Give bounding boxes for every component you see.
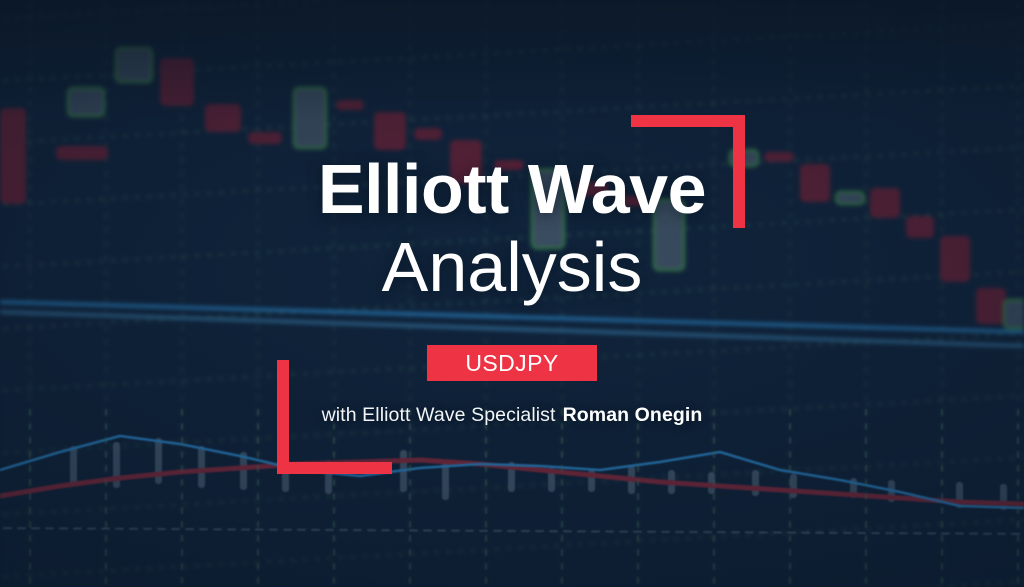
byline-name: Roman Onegin [563,404,703,426]
instrument-badge[interactable]: USDJPY [427,345,597,381]
title-line-1: Elliott Wave [0,154,1024,224]
promo-banner: Elliott Wave Analysis USDJPY with Elliot… [0,0,1024,587]
byline: with Elliott Wave SpecialistRoman Onegin [0,404,1024,427]
hero-content: Elliott Wave Analysis USDJPY with Elliot… [0,0,1024,587]
byline-prefix: with Elliott Wave Specialist [322,404,556,426]
instrument-badge-label: USDJPY [465,350,558,377]
title-line-2: Analysis [0,232,1024,302]
